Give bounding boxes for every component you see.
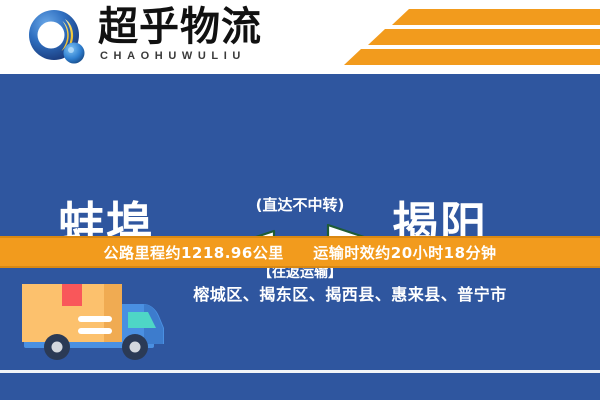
delivery-truck-icon xyxy=(16,278,172,370)
logistics-route-banner: 超乎物流 CHAOHUWULIU (直达不中转) 蚌埠 揭阳 【往返运输】 公路… xyxy=(0,0,600,400)
duration-label: 运输时效约20小时18分钟 xyxy=(313,244,496,262)
route-section: (直达不中转) 蚌埠 揭阳 【往返运输】 xyxy=(0,74,600,236)
speed-stripes-icon xyxy=(330,0,600,74)
stripe-bottom xyxy=(344,49,600,65)
info-band: 公路里程约1218.96公里 运输时效约20小时18分钟 xyxy=(0,236,600,268)
info-band-text: 公路里程约1218.96公里 运输时效约20小时18分钟 xyxy=(103,242,496,263)
brand-name-en: CHAOHUWULIU xyxy=(98,50,262,63)
stripe-top xyxy=(392,9,600,25)
brand-block: 超乎物流 CHAOHUWULIU xyxy=(98,6,262,63)
circle-moon-logo-icon xyxy=(24,8,102,68)
stripe-middle xyxy=(368,29,600,45)
banner-header: 超乎物流 CHAOHUWULIU xyxy=(0,0,600,74)
distance-label: 公路里程约1218.96公里 xyxy=(103,244,283,262)
brand-name-cn: 超乎物流 xyxy=(98,6,262,48)
ground-line xyxy=(0,370,600,373)
coverage-districts: 榕城区、揭东区、揭西县、惠来县、普宁市 xyxy=(150,281,550,305)
